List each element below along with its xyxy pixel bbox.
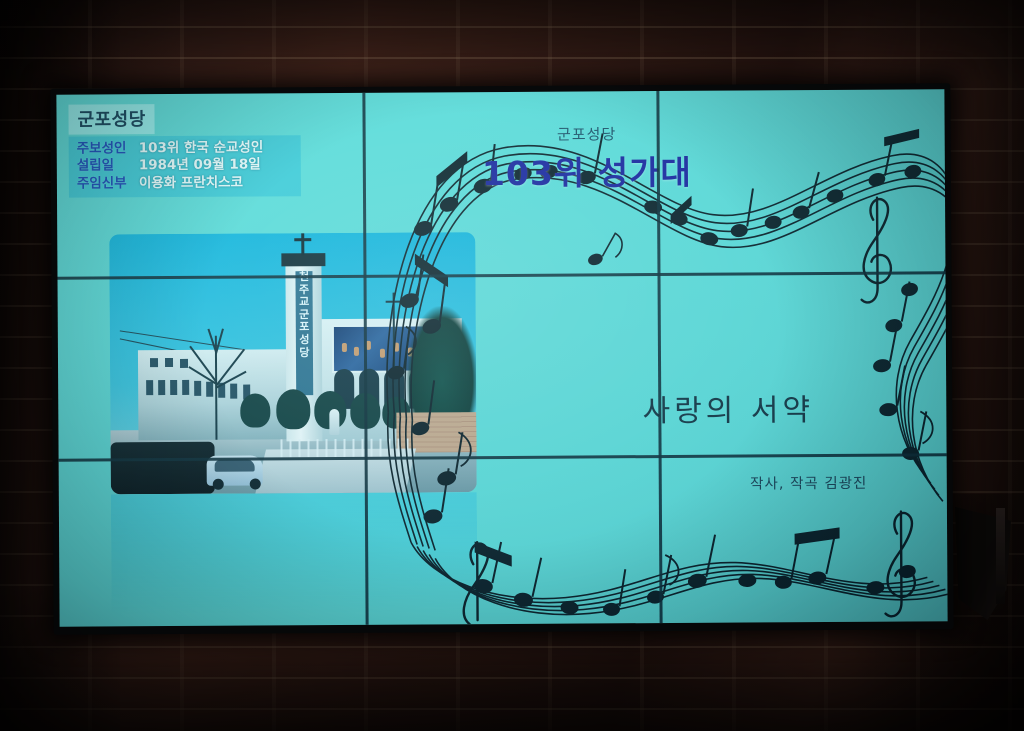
tower-cross: [301, 232, 304, 255]
room-scene: 천주교 군포성당: [0, 0, 1024, 731]
window: [170, 380, 177, 395]
church-photo: 천주교 군포성당: [109, 232, 477, 494]
railing: [280, 439, 412, 458]
window: [165, 358, 173, 367]
window: [158, 380, 165, 395]
table-row: 주임신부 이용화 프란치스코: [77, 174, 293, 193]
tower-cross-bar: [294, 238, 311, 241]
parish-info-table: 주보성인 103위 한국 순교성인 설립일 1984년 09월 18일 주임신부…: [69, 135, 301, 197]
info-label-pastor: 주임신부: [77, 175, 139, 193]
shrub: [240, 393, 270, 427]
page-title: 103위 성가대: [397, 145, 777, 195]
mary-statue: [329, 409, 339, 435]
info-label-patron: 주보성인: [77, 140, 139, 158]
photo-reflection-image: [111, 492, 478, 614]
courtyard-cross-bar: [386, 301, 402, 303]
info-value-patron: 103위 한국 순교성인: [139, 139, 264, 157]
photo-reflection: [111, 492, 478, 614]
window: [146, 380, 153, 395]
video-wall-screen[interactable]: 천주교 군포성당: [56, 89, 947, 626]
info-label-founded: 설립일: [77, 157, 139, 175]
car-wheel: [250, 478, 261, 489]
table-row: 설립일 1984년 09월 18일: [77, 157, 293, 176]
speaker-mount-arm: [996, 508, 1005, 604]
slide-subtitle: 군포성당: [457, 123, 717, 146]
video-wall-bezel: 천주교 군포성당: [50, 83, 953, 634]
tower-sign-text: 천주교 군포성당: [295, 271, 313, 359]
table-row: 주보성인 103위 한국 순교성인: [77, 139, 293, 158]
parish-info-box: 군포성당 주보성인 103위 한국 순교성인 설립일 1984년 09월 18일…: [68, 103, 301, 197]
song-credits: 작사, 작곡 김광진: [679, 471, 939, 494]
parish-info-title: 군포성당: [68, 104, 154, 135]
car-wheel: [213, 479, 224, 490]
reflection-sky: [111, 492, 478, 614]
shrub: [276, 389, 310, 429]
info-value-founded: 1984년 09월 18일: [139, 157, 261, 175]
shrub: [350, 393, 380, 429]
song-title: 사랑의 서약: [578, 385, 878, 431]
church-photo-image: 천주교 군포성당: [109, 232, 477, 494]
parked-van: [111, 442, 215, 495]
tower-sign: 천주교 군포성당: [295, 271, 313, 395]
info-value-pastor: 이용화 프란치스코: [139, 174, 243, 192]
window: [150, 358, 158, 367]
car-window: [215, 460, 255, 472]
